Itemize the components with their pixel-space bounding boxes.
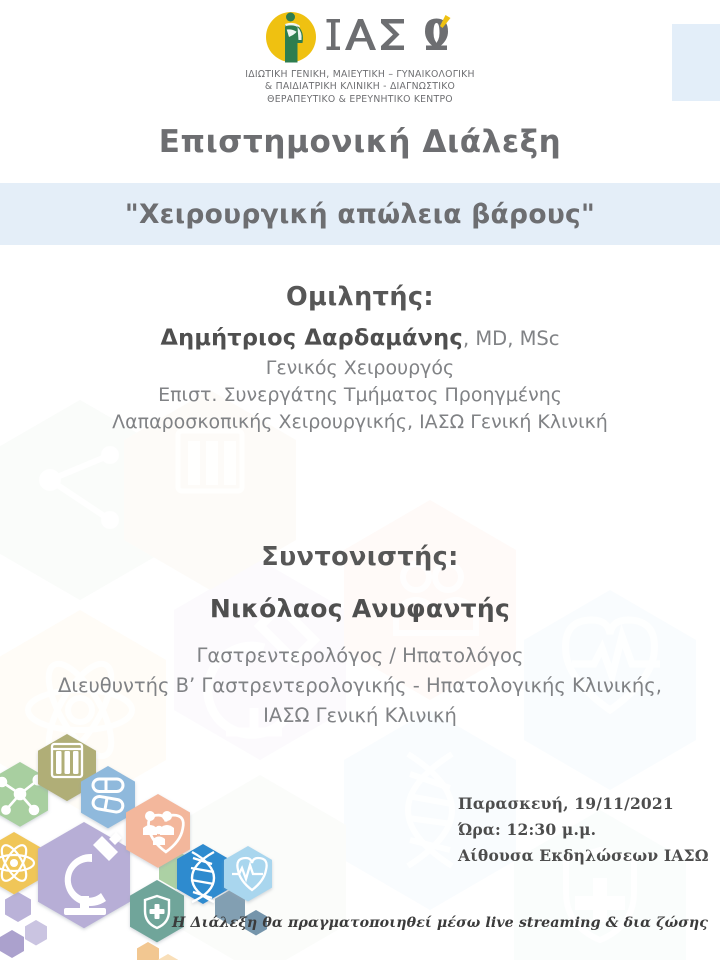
molecule-icon (0, 762, 48, 827)
speaker-degrees: , MD, MSc (463, 327, 560, 350)
logo-subtitle: ΙΔΙΩΤΙΚΗ ΓΕΝΙΚΗ, ΜΑΙΕΥΤΙΚΗ – ΓΥΝΑΙΚΟΛΟΓΙ… (0, 69, 720, 106)
iaso-logo: ΙΔΙΩΤΙΚΗ ΓΕΝΙΚΗ, ΜΑΙΕΥΤΙΚΗ – ΓΥΝΑΙΚΟΛΟΓΙ… (0, 6, 720, 106)
heartbeat-icon (224, 846, 272, 902)
shield-cross-icon (130, 880, 184, 942)
speaker-name: Δημήτριος Δαρδαμάνης (160, 325, 462, 351)
atom-icon (0, 832, 41, 894)
moderator-affiliations: Γαστρεντερολόγος / Ηπατολόγος Διευθυντής… (0, 641, 720, 731)
speaker-affiliations: Γενικός Χειρουργός Επιστ. Συνεργάτης Τμή… (0, 355, 720, 436)
logo-wordmark (327, 15, 451, 50)
moderator-section: Συντονιστής: Νικόλαος Ανυφαντής Γαστρεντ… (0, 542, 720, 731)
speaker-name-row: Δημήτριος Δαρδαμάνης, MD, MSc (0, 325, 720, 351)
event-venue: Αίθουσα Εκδηλώσεων ΙΑΣΩ (458, 843, 709, 869)
dna-icon (177, 844, 229, 904)
speaker-section: Ομιλητής: Δημήτριος Δαρδαμάνης, MD, MSc … (0, 282, 720, 436)
logo-subtitle-line-2: & ΠΑΙΔΙΑΤΡΙΚΗ ΚΛΙΝΙΚΗ - ΔΙΑΓΝΩΣΤΙΚΟ (0, 81, 720, 93)
iaso-logo-mark (255, 6, 465, 66)
moderator-name-row: Νικόλαος Ανυφαντής (0, 594, 720, 623)
speaker-affiliation-line-1: Γενικός Χειρουργός (0, 355, 720, 382)
test-tubes-icon (38, 734, 96, 801)
event-details: Παρασκευή, 19/11/2021 Ώρα: 12:30 μ.μ. Αί… (458, 791, 709, 869)
speaker-affiliation-line-2: Επιστ. Συνεργάτης Τμήματος Προηγμένης (0, 382, 720, 409)
footer-note: Η Διάλεξη θα πραγματοποιηθεί μέσω live s… (0, 915, 720, 931)
moderator-affiliation-line-2: Διευθυντής Β’ Γαστρεντερολογικής - Ηπατο… (0, 671, 720, 701)
moderator-affiliation-line-1: Γαστρεντερολόγος / Ηπατολόγος (0, 641, 720, 671)
logo-subtitle-line-1: ΙΔΙΩΤΙΚΗ ΓΕΝΙΚΗ, ΜΑΙΕΥΤΙΚΗ – ΓΥΝΑΙΚΟΛΟΓΙ… (0, 69, 720, 81)
pills-icon (81, 766, 135, 828)
lecture-title: "Χειρουργική απώλεια βάρους" (0, 183, 720, 245)
event-time: Ώρα: 12:30 μ.μ. (458, 817, 709, 843)
moderator-name: Νικόλαος Ανυφαντής (210, 594, 510, 623)
microscope-icon (38, 822, 130, 928)
event-date: Παρασκευή, 19/11/2021 (458, 791, 709, 817)
moderator-role-label: Συντονιστής: (0, 542, 720, 572)
page-title: Επιστημονική Διάλεξη (0, 124, 720, 160)
speaker-affiliation-line-3: Λαπαροσκοπικής Χειρουργικής, ΙΑΣΩ Γενική… (0, 409, 720, 436)
logo-subtitle-line-3: ΘΕΡΑΠΕΥΤΙΚΟ & ΕΡΕΥΝΗΤΙΚΟ ΚΕΝΤΡΟ (0, 94, 720, 106)
family-heart-icon (126, 794, 190, 868)
moderator-affiliation-line-3: ΙΑΣΩ Γενική Κλινική (0, 701, 720, 731)
speaker-role-label: Ομιλητής: (0, 282, 720, 312)
